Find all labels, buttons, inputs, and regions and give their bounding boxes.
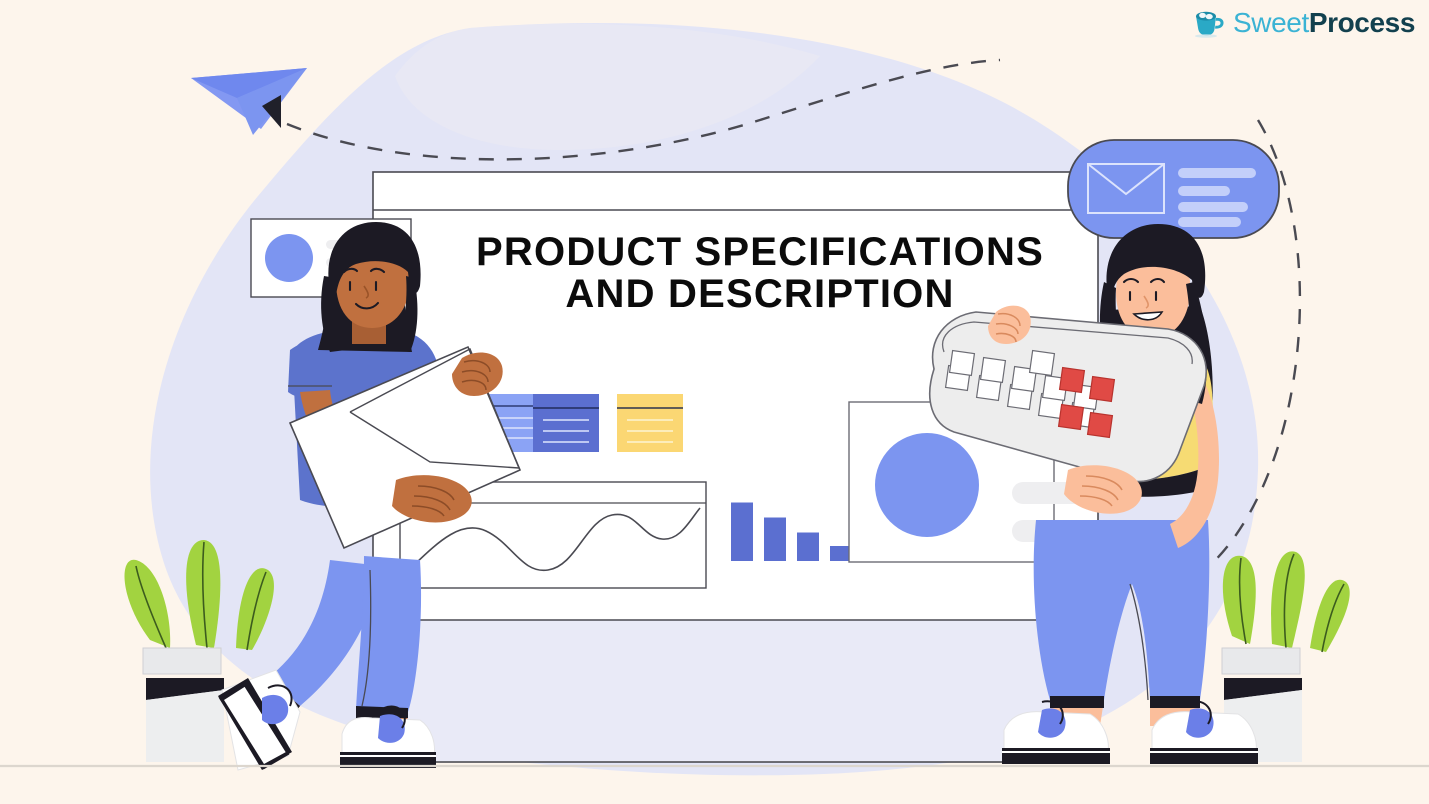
blue-circle-chart — [875, 433, 979, 537]
mini-card-yellow — [617, 394, 683, 452]
blue-circle-avatar — [265, 234, 313, 282]
brand-word-process: Process — [1309, 7, 1415, 38]
bar-2 — [764, 518, 786, 562]
mini-card-deep-blue — [533, 394, 599, 452]
illustration-canvas: PRODUCT SPECIFICATIONS AND DESCRIPTION S… — [0, 0, 1429, 804]
bar-3 — [797, 533, 819, 562]
brand-wordmark: SweetProcess — [1233, 9, 1415, 37]
brand-word-sweet: Sweet — [1233, 7, 1309, 38]
bar-1 — [731, 503, 753, 562]
coffee-cup-icon — [1192, 8, 1226, 38]
hero-illustration — [0, 0, 1429, 804]
brand-logo[interactable]: SweetProcess — [1192, 8, 1415, 38]
mail-notification-bubble — [1068, 140, 1279, 238]
